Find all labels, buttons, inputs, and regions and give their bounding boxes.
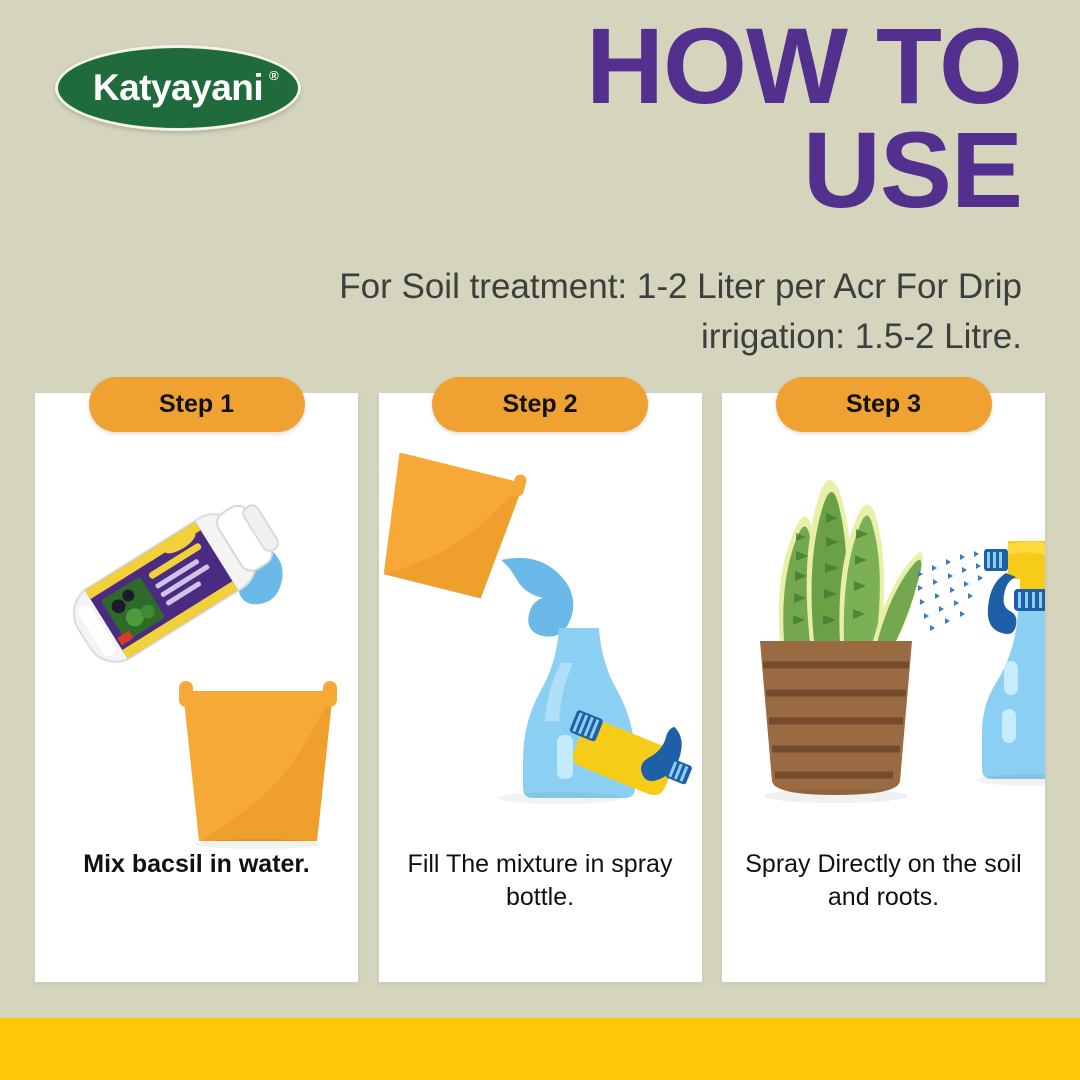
page-title-line-2: USE bbox=[302, 118, 1022, 222]
step-3-illustration bbox=[722, 453, 1045, 853]
brand-name: Katyayani bbox=[93, 67, 263, 108]
dosage-subtitle: For Soil treatment: 1-2 Liter per Acr Fo… bbox=[292, 262, 1022, 361]
spray-mist bbox=[918, 551, 983, 631]
page-title: HOW TO USE bbox=[302, 14, 1022, 221]
step-1-caption: Mix bacsil in water. bbox=[53, 848, 340, 881]
step-2-illustration bbox=[379, 453, 702, 853]
step-badge-3: Step 3 bbox=[776, 377, 992, 432]
step-2-caption: Fill The mixture in spray bottle. bbox=[397, 848, 684, 915]
plant-pot bbox=[760, 641, 912, 803]
step-badge-2: Step 2 bbox=[432, 377, 648, 432]
step-card-3: Step 3 bbox=[722, 393, 1045, 982]
step-badge-1: Step 1 bbox=[89, 377, 305, 432]
brand-logo-text: Katyayani® bbox=[93, 67, 263, 109]
plant-leaves bbox=[779, 480, 923, 645]
step-card-2: Step 2 bbox=[379, 393, 702, 982]
poster-canvas: Katyayani® HOW TO USE For Soil treatment… bbox=[0, 0, 1080, 1080]
spray-bottle bbox=[976, 541, 1045, 786]
steps-container: Step 1 bbox=[35, 393, 1045, 982]
spray-bottle-spraying-potted-plant-icon bbox=[722, 453, 1045, 853]
brand-logo: Katyayani® bbox=[55, 45, 301, 131]
step-card-1: Step 1 bbox=[35, 393, 358, 982]
page-title-line-1: HOW TO bbox=[302, 14, 1022, 118]
step-3-caption: Spray Directly on the soil and roots. bbox=[740, 848, 1027, 915]
footer-bar bbox=[0, 1018, 1080, 1080]
step-1-illustration bbox=[35, 453, 358, 853]
bucket-pouring-into-spray-bottle-icon bbox=[379, 453, 702, 853]
registered-trademark-icon: ® bbox=[269, 68, 278, 83]
bucket-icon bbox=[35, 453, 358, 853]
